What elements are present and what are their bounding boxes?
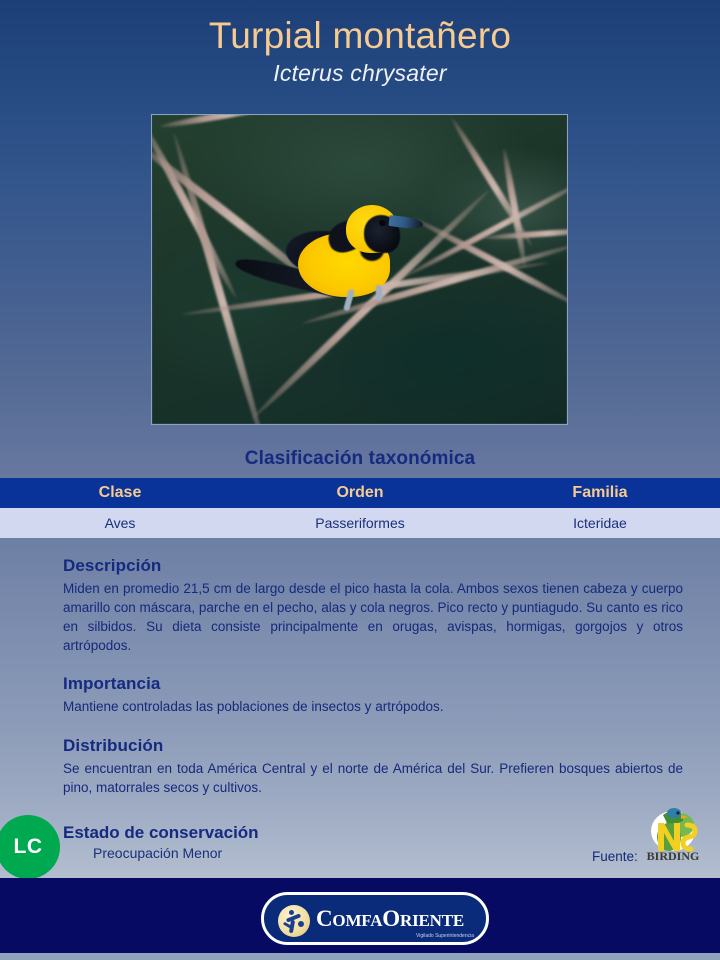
title-block: Turpial montañero Icterus chrysater — [0, 14, 720, 87]
bird-photo — [151, 114, 568, 425]
source-label: Fuente: — [592, 849, 638, 864]
comfaoriente-logo: COMFAORIENTE Vigilado Superintendencia — [261, 892, 489, 945]
conservation-heading: Estado de conservación — [63, 823, 443, 843]
taxonomy-table: Clase Orden Familia Aves Passeriformes I… — [0, 478, 720, 538]
bird-fact-poster: Turpial montañero Icterus chrysater — [0, 0, 720, 960]
footer-bottom-strip — [0, 953, 720, 960]
comfaoriente-mark-icon — [278, 905, 310, 937]
section-heading: Descripción — [63, 556, 683, 576]
table-header-familia: Familia — [480, 478, 720, 508]
footer-tagline: Vigilado Superintendencia — [416, 933, 474, 939]
table-header-row: Clase Orden Familia — [0, 478, 720, 508]
scientific-name: Icterus chrysater — [0, 59, 720, 87]
table-header-orden: Orden — [240, 478, 480, 508]
brand-omfa: OMFA — [332, 911, 382, 930]
bird-eye — [379, 220, 386, 226]
section-text: Mantiene controladas las poblaciones de … — [63, 697, 683, 716]
figure-head — [289, 910, 294, 915]
section-heading: Importancia — [63, 674, 683, 694]
brand-riente: RIENTE — [400, 911, 464, 930]
brand-c: C — [316, 906, 332, 931]
table-cell-orden: Passeriformes — [240, 508, 480, 538]
table-header-clase: Clase — [0, 478, 240, 508]
section-distribucion: Distribución Se encuentran en toda Améri… — [63, 736, 683, 797]
ns-birding-logo-icon: BIRDING — [640, 805, 706, 867]
brand-o: O — [382, 906, 400, 931]
bird-leg — [375, 285, 382, 301]
table-cell-familia: Icteridae — [480, 508, 720, 538]
section-importancia: Importancia Mantiene controladas las pob… — [63, 674, 683, 716]
section-text: Se encuentran en toda América Central y … — [63, 759, 683, 797]
conservation-block: Estado de conservación Preocupación Meno… — [63, 823, 443, 861]
section-text: Miden en promedio 21,5 cm de largo desde… — [63, 579, 683, 655]
bird-illustration — [234, 201, 434, 331]
comfaoriente-wordmark: COMFAORIENTE — [316, 906, 464, 932]
section-descripcion: Descripción Miden en promedio 21,5 cm de… — [63, 556, 683, 655]
page-title: Turpial montañero — [0, 14, 720, 58]
section-heading: Distribución — [63, 736, 683, 756]
table-row: Aves Passeriformes Icteridae — [0, 508, 720, 538]
birding-wordmark: BIRDING — [647, 849, 700, 863]
table-cell-clase: Aves — [0, 508, 240, 538]
conservation-label: Preocupación Menor — [93, 845, 443, 861]
figure-child — [298, 921, 304, 927]
taxonomy-title: Clasificación taxonómica — [0, 448, 720, 470]
